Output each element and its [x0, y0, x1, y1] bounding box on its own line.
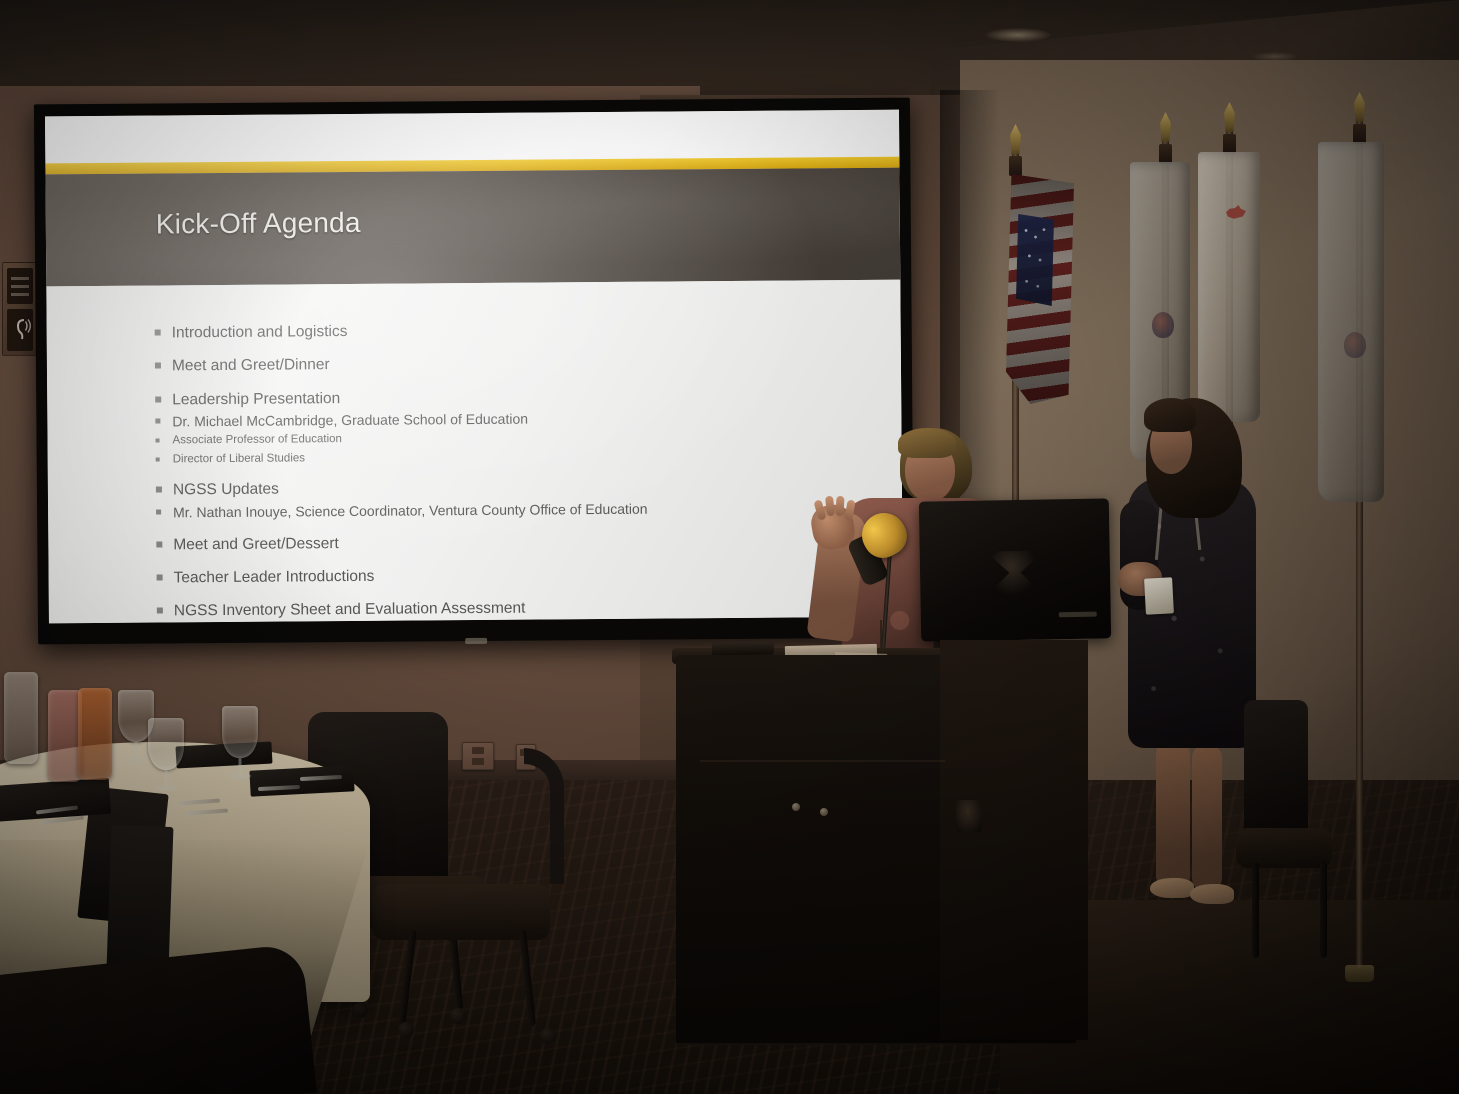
agenda-subitem: Mr. Nathan Inouye, Science Coordinator, … — [156, 496, 862, 523]
slide-top-white-strip — [45, 110, 899, 165]
chair-leg — [1252, 862, 1259, 958]
sign-symbol-plate — [7, 309, 33, 351]
slide-body: Introduction and Logistics Meet and Gree… — [46, 280, 903, 624]
podium-knob[interactable] — [820, 808, 828, 816]
us-flag-canton — [1016, 214, 1054, 306]
leg — [1192, 744, 1222, 892]
flag-collar — [1353, 124, 1366, 144]
california-flag-banner — [1198, 152, 1260, 422]
agenda-subsubitem-label: Director of Liberal Studies — [156, 446, 862, 469]
chair-caster — [540, 1028, 556, 1044]
sign-text-plate — [7, 268, 33, 304]
flag-pole-base — [1345, 965, 1374, 982]
agenda-item: Meet and Greet/Dessert — [156, 527, 862, 556]
podium-device — [712, 641, 774, 655]
agenda-list: Introduction and Logistics Meet and Gree… — [155, 316, 863, 623]
chair-caster — [352, 1002, 368, 1018]
agenda-item: Leadership Presentation Dr. Michael McCa… — [155, 382, 862, 468]
flag-collar — [1009, 156, 1022, 176]
hair-front — [1144, 398, 1196, 432]
slide-title: Kick-Off Agenda — [156, 207, 361, 241]
name-badge — [1144, 577, 1174, 614]
podium-knob[interactable] — [792, 803, 800, 811]
shoe — [1150, 878, 1194, 898]
podium-lock[interactable] — [956, 800, 982, 832]
us-flag-banner — [1006, 174, 1074, 404]
hair-front — [898, 428, 956, 458]
agenda-item-label: NGSS Inventory Sheet and Evaluation Asse… — [157, 594, 863, 623]
podium-side-panel — [940, 640, 1088, 1040]
wine-glass — [222, 706, 258, 758]
table-napkin — [249, 765, 354, 796]
agenda-subitem-label: Mr. Nathan Inouye, Science Coordinator, … — [156, 496, 862, 523]
conference-room-scene: Kick-Off Agenda Introduction and Logisti… — [0, 0, 1459, 1094]
projection-screen-surface: Kick-Off Agenda Introduction and Logisti… — [45, 110, 903, 624]
agenda-item: NGSS Inventory Sheet and Evaluation Asse… — [157, 594, 863, 623]
flag-seal — [1152, 312, 1174, 338]
podium-monitor — [919, 498, 1111, 641]
flag-collar — [1159, 144, 1172, 164]
agenda-sublist: Mr. Nathan Inouye, Science Coordinator, … — [156, 496, 862, 523]
projection-screen-frame: Kick-Off Agenda Introduction and Logisti… — [34, 98, 914, 645]
agenda-item-label: Meet and Greet/Dessert — [156, 527, 862, 556]
beverage-pitcher-water — [4, 672, 38, 764]
white-flag-banner — [1318, 142, 1384, 502]
leg — [1156, 740, 1190, 890]
agenda-subsubitem: Director of Liberal Studies — [156, 446, 862, 469]
flag-seal — [1344, 332, 1366, 358]
chair-seat — [1236, 828, 1332, 868]
agenda-item: NGSS Updates Mr. Nathan Inouye, Science … — [156, 473, 862, 523]
beverage-pitcher-iced-tea — [78, 688, 112, 780]
monitor-vesa-mount — [992, 550, 1039, 595]
monitor-label-strip — [1059, 612, 1097, 618]
agenda-item-label: Introduction and Logistics — [155, 316, 861, 345]
agenda-subitem: Dr. Michael McCambridge, Graduate School… — [155, 406, 861, 469]
chair-caster — [450, 1008, 466, 1024]
chair-leg — [1320, 862, 1327, 958]
chair-backrest-curve — [524, 748, 564, 884]
wall-outlet-duplex — [462, 742, 494, 770]
wine-glass — [148, 718, 184, 770]
california-bear-icon — [1226, 204, 1246, 220]
agenda-item: Introduction and Logistics — [155, 316, 861, 345]
agenda-item-label: Meet and Greet/Dinner — [155, 349, 861, 378]
agenda-item-label: Teacher Leader Introductions — [157, 561, 863, 590]
agenda-subsublist: Associate Professor of Education Directo… — [155, 427, 861, 469]
podium-panel-seam — [700, 760, 945, 762]
assistive-listening-sign — [2, 262, 38, 356]
shoe — [1190, 884, 1234, 904]
chair-caster — [398, 1022, 414, 1038]
beverage-pitcher-pink — [48, 690, 82, 782]
finger — [835, 496, 844, 516]
agenda-item: Teacher Leader Introductions — [157, 561, 863, 590]
ceiling-light-fixture — [985, 28, 1051, 42]
flag-collar — [1223, 134, 1236, 154]
agenda-item: Meet and Greet/Dinner — [155, 349, 861, 378]
agenda-sublist: Dr. Michael McCambridge, Graduate School… — [155, 406, 861, 469]
assistive-listening-icon — [12, 315, 32, 343]
